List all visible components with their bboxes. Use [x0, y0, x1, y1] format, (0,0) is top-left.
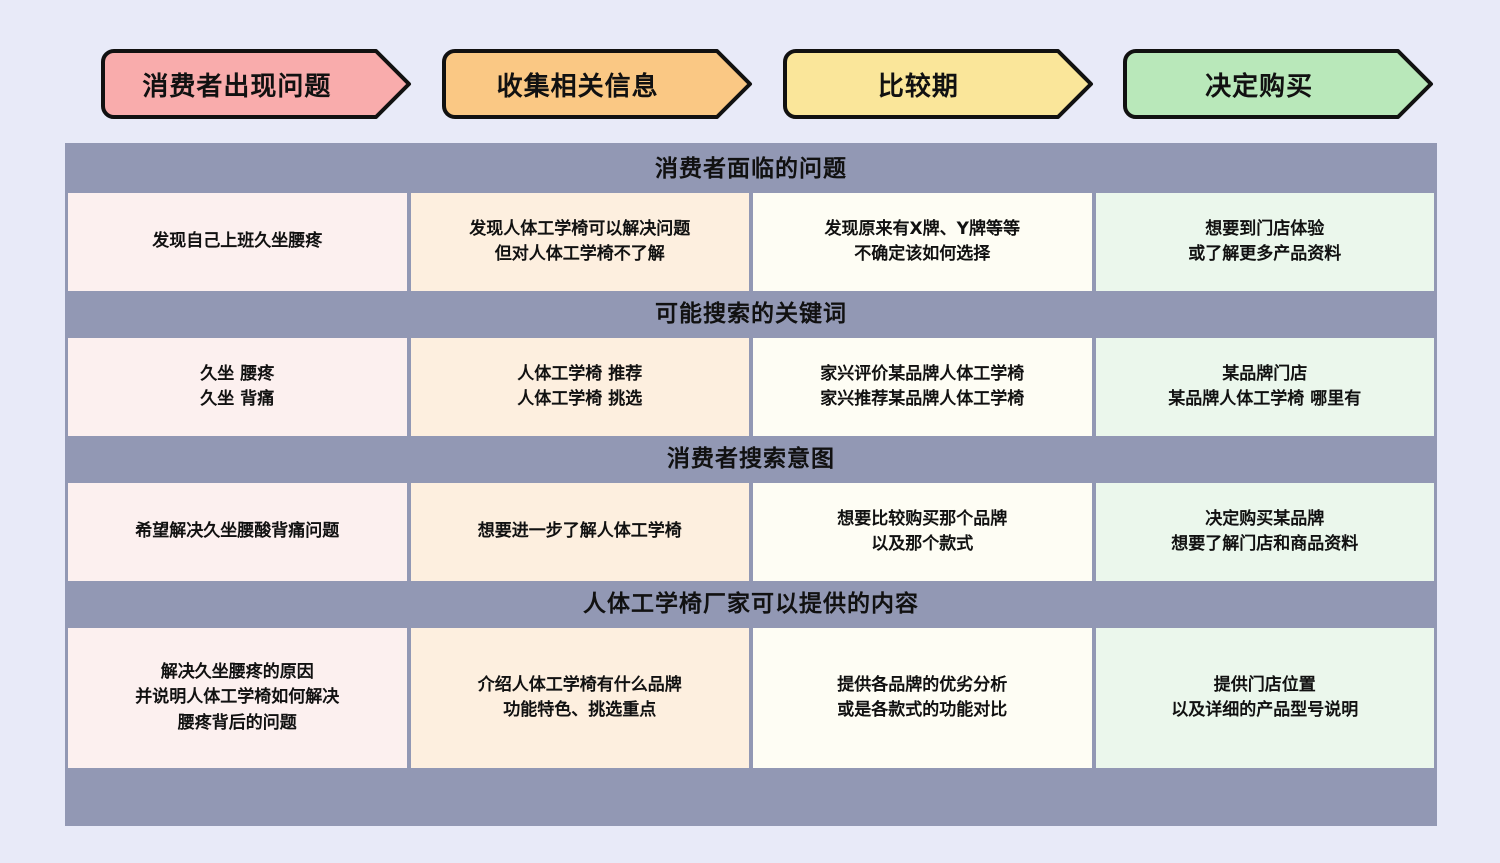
stage-arrow-2-label: 收集相关信息 — [497, 66, 659, 103]
matrix-cell: 家兴评价某品牌人体工学椅 家兴推荐某品牌人体工学椅 — [753, 338, 1092, 436]
section-header-problems: 消费者面临的问题 — [68, 146, 1434, 193]
matrix-cell: 发现自己上班久坐腰疼 — [68, 193, 407, 291]
matrix-cell: 发现人体工学椅可以解决问题 但对人体工学椅不了解 — [411, 193, 750, 291]
matrix-cell: 久坐 腰疼 久坐 背痛 — [68, 338, 407, 436]
section-header-intent: 消费者搜索意图 — [68, 436, 1434, 483]
stage-arrow-3-label: 比较期 — [878, 66, 959, 103]
matrix-cell: 解决久坐腰疼的原因 并说明人体工学椅如何解决 腰疼背后的问题 — [68, 628, 407, 768]
matrix-section-keywords: 可能搜索的关键词 久坐 腰疼 久坐 背痛 人体工学椅 推荐 人体工学椅 挑选 家… — [68, 291, 1434, 436]
journey-matrix-table: 消费者面临的问题 发现自己上班久坐腰疼 发现人体工学椅可以解决问题 但对人体工学… — [65, 143, 1437, 826]
table-row: 希望解决久坐腰酸背痛问题 想要进一步了解人体工学椅 想要比较购买那个品牌 以及那… — [68, 483, 1434, 581]
matrix-section-content: 人体工学椅厂家可以提供的内容 解决久坐腰疼的原因 并说明人体工学椅如何解决 腰疼… — [68, 581, 1434, 768]
matrix-cell: 提供门店位置 以及详细的产品型号说明 — [1096, 628, 1435, 768]
matrix-cell: 想要比较购买那个品牌 以及那个款式 — [753, 483, 1092, 581]
stage-arrow-4-label: 决定购买 — [1205, 66, 1313, 103]
matrix-cell: 决定购买某品牌 想要了解门店和商品资料 — [1096, 483, 1435, 581]
section-header-keywords: 可能搜索的关键词 — [68, 291, 1434, 338]
stage-arrow-4[interactable]: 决定购买 — [1122, 48, 1430, 120]
table-row: 久坐 腰疼 久坐 背痛 人体工学椅 推荐 人体工学椅 挑选 家兴评价某品牌人体工… — [68, 338, 1434, 436]
matrix-cell: 发现原来有X牌、Y牌等等 不确定该如何选择 — [753, 193, 1092, 291]
matrix-section-problems: 消费者面临的问题 发现自己上班久坐腰疼 发现人体工学椅可以解决问题 但对人体工学… — [68, 146, 1434, 291]
matrix-cell: 想要到门店体验 或了解更多产品资料 — [1096, 193, 1435, 291]
infographic-canvas: 家兴网络 JIAXINGWANGLUO 消费者出现问题 收集相关信息 比较期 — [0, 0, 1500, 863]
matrix-section-intent: 消费者搜索意图 希望解决久坐腰酸背痛问题 想要进一步了解人体工学椅 想要比较购买… — [68, 436, 1434, 581]
stage-arrow-1[interactable]: 消费者出现问题 — [100, 48, 408, 120]
matrix-cell: 介绍人体工学椅有什么品牌 功能特色、挑选重点 — [411, 628, 750, 768]
matrix-cell: 提供各品牌的优劣分析 或是各款式的功能对比 — [753, 628, 1092, 768]
table-row: 发现自己上班久坐腰疼 发现人体工学椅可以解决问题 但对人体工学椅不了解 发现原来… — [68, 193, 1434, 291]
matrix-cell: 希望解决久坐腰酸背痛问题 — [68, 483, 407, 581]
stage-arrow-1-label: 消费者出现问题 — [142, 66, 331, 103]
stage-arrow-row: 消费者出现问题 收集相关信息 比较期 决定购买 — [100, 48, 1430, 120]
stage-arrow-2[interactable]: 收集相关信息 — [441, 48, 749, 120]
stage-arrow-3[interactable]: 比较期 — [782, 48, 1090, 120]
table-row: 解决久坐腰疼的原因 并说明人体工学椅如何解决 腰疼背后的问题 介绍人体工学椅有什… — [68, 628, 1434, 768]
matrix-cell: 某品牌门店 某品牌人体工学椅 哪里有 — [1096, 338, 1435, 436]
section-header-content: 人体工学椅厂家可以提供的内容 — [68, 581, 1434, 628]
matrix-cell: 想要进一步了解人体工学椅 — [411, 483, 750, 581]
matrix-cell: 人体工学椅 推荐 人体工学椅 挑选 — [411, 338, 750, 436]
